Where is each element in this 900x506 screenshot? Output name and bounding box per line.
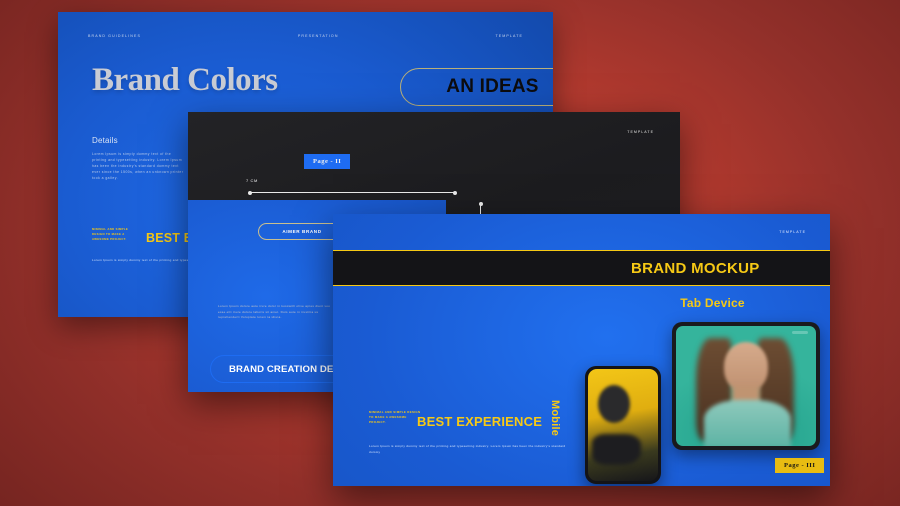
presentation-mockup-canvas: BRAND GUIDELINES PRESENTATION TEMPLATE B…: [0, 0, 900, 506]
topbar-center-label: PRESENTATION: [298, 34, 339, 38]
variation-template-label: TEMPLATE: [627, 130, 654, 134]
phone-device-mockup: [585, 366, 661, 484]
details-body: Lorem Ipsum is simply dummy text of the …: [92, 152, 184, 182]
phone-image-shape-b: [592, 434, 641, 465]
tab-device-heading: Tab Device: [333, 296, 830, 310]
dimension-line-top: [250, 192, 455, 193]
page-badge-ii-overlay[interactable]: Page - II: [304, 154, 350, 169]
an-ideas-label: AN IDEAS: [446, 76, 538, 98]
mockup-template-label: TEMPLATE: [779, 230, 806, 234]
mockup-footer-text: Lorem Ipsum is simply dummy text of the …: [369, 444, 569, 455]
an-ideas-pill[interactable]: AN IDEAS: [400, 68, 553, 106]
portrait-face: [724, 342, 769, 392]
page-badge-iii[interactable]: Page - III: [775, 458, 824, 473]
dimension-label-top: 7 CM: [246, 178, 258, 183]
page-title: Brand Colors: [92, 64, 278, 97]
topbar-right-label: TEMPLATE: [495, 34, 523, 38]
tablet-screen: [676, 326, 816, 446]
mockup-kicker-text: MINIMAL AND SIMPLE DESIGN TO MAKE A AWES…: [369, 410, 421, 426]
kicker-text: MINIMAL AND SIMPLE DESIGN TO MAKE A AWES…: [92, 227, 142, 242]
aimer-brand-label: AIMER BRAND: [282, 229, 321, 234]
mockup-best-experience-heading: BEST EXPERIENCE: [417, 414, 542, 429]
phone-screen: [588, 369, 658, 481]
topbar-left-label: BRAND GUIDELINES: [88, 34, 141, 38]
mobile-vertical-label: Mobile: [549, 400, 561, 436]
tablet-status-bar: [792, 331, 808, 334]
details-heading: Details: [92, 136, 118, 145]
portrait-body: [704, 400, 791, 446]
tablet-device-mockup: [672, 322, 820, 450]
phone-image-shape-a: [598, 385, 630, 423]
slide-brand-mockup[interactable]: TEMPLATE BRAND MOCKUP Tab Device MINIMAL…: [333, 214, 830, 486]
variation-body-text: Lorem Ipsum dolore aute irure dolor in k…: [218, 304, 338, 321]
mockup-title-band: BRAND MOCKUP: [333, 250, 830, 286]
mockup-title: BRAND MOCKUP: [631, 260, 760, 277]
slide-topbar: BRAND GUIDELINES PRESENTATION TEMPLATE: [58, 34, 553, 38]
